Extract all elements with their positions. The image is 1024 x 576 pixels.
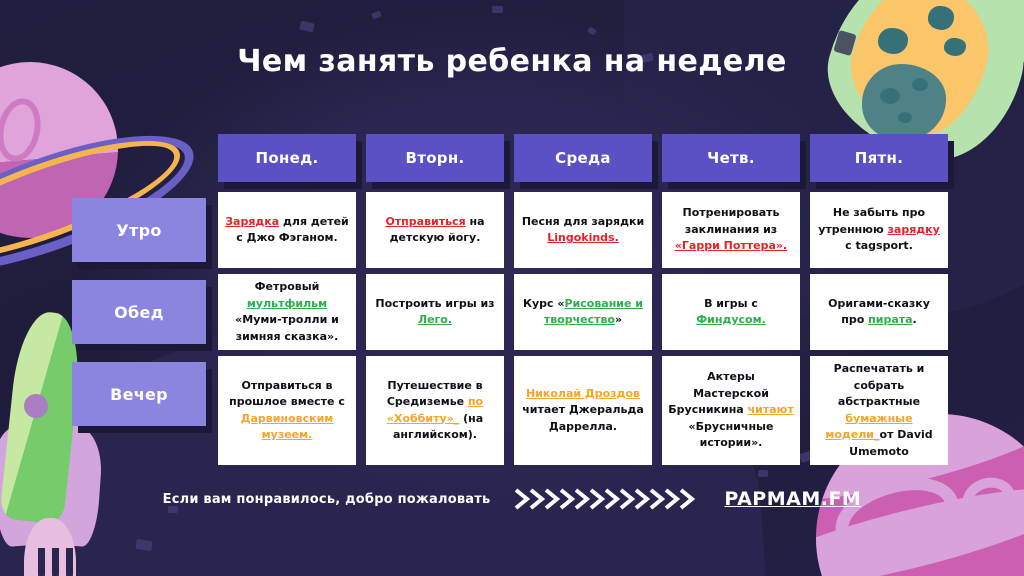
schedule-cell-text: Путешествие в Средиземье по «Хоббиту»_ (… <box>372 378 498 444</box>
schedule-cell-text: Оригами-сказку про пирата. <box>816 296 942 329</box>
cell-link[interactable]: мультфильм <box>247 297 327 310</box>
schedule-cell-lunch-thursday[interactable]: В игры с Финдусом. <box>662 274 800 350</box>
cell-link[interactable]: «Гарри Поттера». <box>675 239 787 252</box>
schedule-cell-lunch-wednesday[interactable]: Курс «Рисование и творчество» <box>514 274 652 350</box>
cell-link[interactable]: зарядку <box>888 223 940 236</box>
schedule-cell-morning-tuesday[interactable]: Отправиться на детскую йогу. <box>366 192 504 268</box>
day-header-label: Четв. <box>707 149 755 167</box>
cell-text-run: «Муми-тролли и зимняя сказка». <box>235 313 339 343</box>
schedule-cell-text: В игры с Финдусом. <box>668 296 794 329</box>
cell-text-run: В игры с <box>704 297 758 310</box>
cell-link[interactable]: Финдусом. <box>696 313 766 326</box>
schedule-cell-text: Построить игры из Лего. <box>372 296 498 329</box>
day-header-tuesday[interactable]: Вторн. <box>366 134 504 182</box>
day-header-wednesday[interactable]: Среда <box>514 134 652 182</box>
schedule-cell-text: Потренировать заклинания из «Гарри Потте… <box>668 205 794 255</box>
cell-text-run: Отправиться в прошлое вместе с <box>229 379 345 409</box>
time-label-text: Обед <box>114 303 164 322</box>
cell-text-run: Песня для зарядки <box>522 215 644 228</box>
brand-link[interactable]: PAPMAM.FM <box>724 488 861 510</box>
schedule-row-evening: Отправиться в прошлое вместе с Дарвиновс… <box>218 356 948 465</box>
day-header-monday[interactable]: Понед. <box>218 134 356 182</box>
schedule-cell-evening-friday[interactable]: Распечатать и собрать абстрактные бумажн… <box>810 356 948 465</box>
schedule-cell-lunch-tuesday[interactable]: Построить игры из Лего. <box>366 274 504 350</box>
footer: Если вам понравилось, добро пожаловать <box>0 486 1024 512</box>
schedule-cell-evening-monday[interactable]: Отправиться в прошлое вместе с Дарвиновс… <box>218 356 356 465</box>
schedule-cell-text: Курс «Рисование и творчество» <box>520 296 646 329</box>
schedule-row-lunch: Фетровый мультфильм «Муми-тролли и зимня… <box>218 274 948 350</box>
schedule-cell-text: Николай Дроздов читает Джеральда Даррелл… <box>520 386 646 436</box>
day-header-friday[interactable]: Пятн. <box>810 134 948 182</box>
schedule-row-morning: Зарядка для детей с Джо Фэганом.Отправит… <box>218 192 948 268</box>
schedule-cell-morning-monday[interactable]: Зарядка для детей с Джо Фэганом. <box>218 192 356 268</box>
time-label-evening[interactable]: Вечер <box>72 362 206 426</box>
schedule-cell-evening-tuesday[interactable]: Путешествие в Средиземье по «Хоббиту»_ (… <box>366 356 504 465</box>
chevron-right-icon <box>512 486 702 512</box>
time-label-text: Утро <box>116 221 161 240</box>
schedule-cells: Зарядка для детей с Джо Фэганом.Отправит… <box>218 192 948 465</box>
time-label-column: Утро Обед Вечер <box>72 198 206 426</box>
time-label-lunch[interactable]: Обед <box>72 280 206 344</box>
cell-text-run: Потренировать заклинания из <box>683 206 780 236</box>
time-label-morning[interactable]: Утро <box>72 198 206 262</box>
cell-link[interactable]: Lingokinds. <box>547 231 619 244</box>
schedule-cell-lunch-monday[interactable]: Фетровый мультфильм «Муми-тролли и зимня… <box>218 274 356 350</box>
cell-text-run: с tagsport. <box>845 239 913 252</box>
cell-link[interactable]: Дарвиновским музеем. <box>241 412 334 442</box>
day-header-label: Понед. <box>255 149 318 167</box>
cell-text-run: Курс « <box>523 297 565 310</box>
schedule-cell-text: Отправиться в прошлое вместе с Дарвиновс… <box>224 378 350 444</box>
schedule-cell-text: Зарядка для детей с Джо Фэганом. <box>224 214 350 247</box>
schedule-cell-text: Отправиться на детскую йогу. <box>372 214 498 247</box>
day-header-row: Понед. Вторн. Среда Четв. Пятн. <box>218 134 948 182</box>
schedule-cell-lunch-friday[interactable]: Оригами-сказку про пирата. <box>810 274 948 350</box>
schedule-cell-morning-wednesday[interactable]: Песня для зарядки Lingokinds. <box>514 192 652 268</box>
cell-link[interactable]: пирата <box>868 313 912 326</box>
cell-text-run: Построить игры из <box>375 297 494 310</box>
footer-text: Если вам понравилось, добро пожаловать <box>163 492 491 507</box>
schedule-cell-text: Не забыть про утреннюю зарядку с tagspor… <box>816 205 942 255</box>
schedule-cell-text: Фетровый мультфильм «Муми-тролли и зимня… <box>224 279 350 345</box>
cell-link[interactable]: читают <box>748 403 794 416</box>
schedule-cell-evening-thursday[interactable]: Актеры Мастерской Брусникина читают «Бру… <box>662 356 800 465</box>
time-label-text: Вечер <box>110 385 168 404</box>
cell-text-run: читает Джеральда Даррелла. <box>522 403 644 433</box>
cell-text-run: «Брусничные истории». <box>689 420 774 450</box>
page-title: Чем занять ребенка на неделе <box>0 44 1024 79</box>
cell-link[interactable]: Отправиться <box>385 215 465 228</box>
schedule-cell-text: Распечатать и собрать абстрактные бумажн… <box>816 361 942 460</box>
day-header-label: Вторн. <box>405 149 464 167</box>
schedule-cell-text: Актеры Мастерской Брусникина читают «Бру… <box>668 369 794 452</box>
cell-link[interactable]: Лего. <box>418 313 452 326</box>
schedule-cell-morning-thursday[interactable]: Потренировать заклинания из «Гарри Потте… <box>662 192 800 268</box>
day-header-label: Пятн. <box>855 149 903 167</box>
cell-link[interactable]: Зарядка <box>225 215 279 228</box>
day-header-label: Среда <box>555 149 611 167</box>
cell-text-run: Фетровый <box>255 280 320 293</box>
day-header-thursday[interactable]: Четв. <box>662 134 800 182</box>
schedule-cell-text: Песня для зарядки Lingokinds. <box>520 214 646 247</box>
cell-text-run: . <box>913 313 917 326</box>
schedule-cell-evening-wednesday[interactable]: Николай Дроздов читает Джеральда Даррелл… <box>514 356 652 465</box>
cell-text-run: » <box>615 313 622 326</box>
schedule-cell-morning-friday[interactable]: Не забыть про утреннюю зарядку с tagspor… <box>810 192 948 268</box>
slide-canvas: Чем занять ребенка на неделе Понед. Втор… <box>0 0 1024 576</box>
cell-link[interactable]: Николай Дроздов <box>526 387 640 400</box>
cell-text-run: Распечатать и собрать абстрактные <box>834 362 925 408</box>
